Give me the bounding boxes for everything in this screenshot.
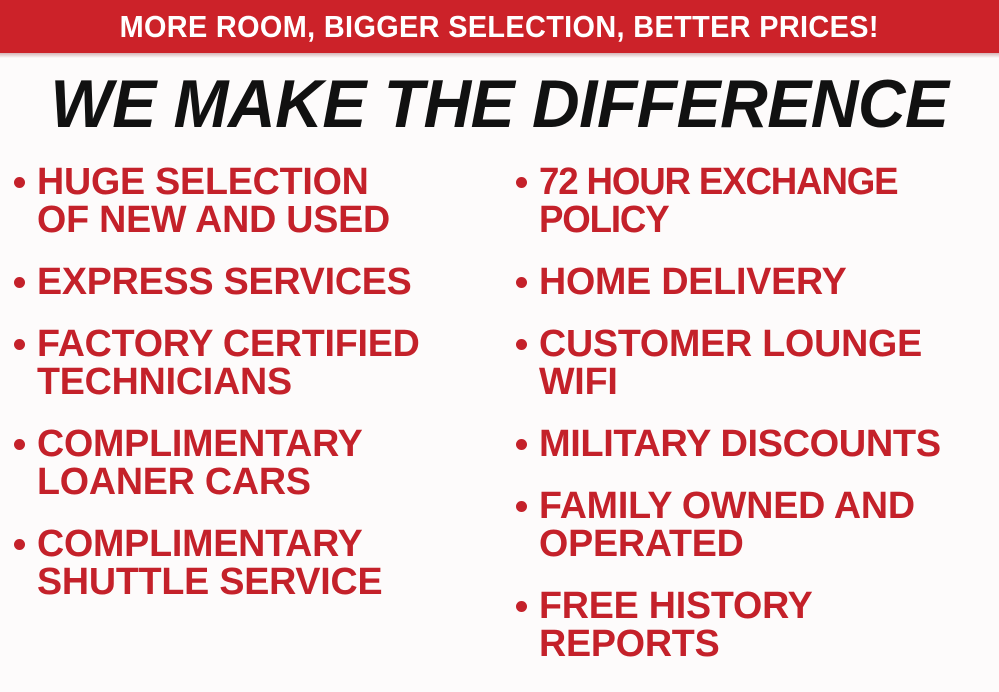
features-section: HUGE SELECTION OF NEW AND USED EXPRESS S… (0, 163, 999, 692)
list-item: FACTORY CERTIFIED TECHNICIANS (14, 325, 500, 401)
bullet-dot-icon (516, 177, 527, 188)
promo-banner: MORE ROOM, BIGGER SELECTION, BETTER PRIC… (0, 0, 999, 53)
list-item: 72 HOUR EXCHANGE POLICY (516, 163, 999, 239)
bullet-dot-icon (14, 177, 25, 188)
list-item: HOME DELIVERY (516, 263, 999, 301)
bullet-dot-icon (516, 501, 527, 512)
list-item-label: HUGE SELECTION OF NEW AND USED (37, 163, 495, 239)
list-item-label: EXPRESS SERVICES (37, 263, 495, 301)
list-item-label: 72 HOUR EXCHANGE POLICY (539, 163, 983, 239)
features-column-right: 72 HOUR EXCHANGE POLICY HOME DELIVERY CU… (516, 163, 999, 687)
list-item-label: FACTORY CERTIFIED TECHNICIANS (37, 325, 495, 401)
list-item: FAMILY OWNED AND OPERATED (516, 487, 999, 563)
bullet-dot-icon (516, 277, 527, 288)
bullet-dot-icon (14, 339, 25, 350)
features-column-left: HUGE SELECTION OF NEW AND USED EXPRESS S… (14, 163, 500, 625)
list-item: CUSTOMER LOUNGE WIFI (516, 325, 999, 401)
list-item-label: FAMILY OWNED AND OPERATED (539, 487, 994, 563)
list-item-label: COMPLIMENTARY SHUTTLE SERVICE (37, 525, 495, 601)
list-item: EXPRESS SERVICES (14, 263, 500, 301)
list-item-label: COMPLIMENTARY LOANER CARS (37, 425, 495, 501)
bullet-dot-icon (516, 439, 527, 450)
promo-banner-text: MORE ROOM, BIGGER SELECTION, BETTER PRIC… (120, 11, 879, 42)
list-item: COMPLIMENTARY SHUTTLE SERVICE (14, 525, 500, 601)
list-item-label: CUSTOMER LOUNGE WIFI (539, 325, 994, 401)
page-title: WE MAKE THE DIFFERENCE (15, 70, 984, 138)
bullet-dot-icon (14, 439, 25, 450)
list-item: MILITARY DISCOUNTS (516, 425, 999, 463)
bullet-dot-icon (14, 539, 25, 550)
bullet-dot-icon (516, 339, 527, 350)
list-item-label: MILITARY DISCOUNTS (539, 425, 999, 463)
list-item: FREE HISTORY REPORTS (516, 587, 999, 663)
banner-shadow-divider (0, 53, 999, 58)
list-item: HUGE SELECTION OF NEW AND USED (14, 163, 500, 239)
list-item-label: HOME DELIVERY (539, 263, 994, 301)
list-item: COMPLIMENTARY LOANER CARS (14, 425, 500, 501)
bullet-dot-icon (14, 277, 25, 288)
list-item-label: FREE HISTORY REPORTS (539, 587, 994, 663)
bullet-dot-icon (516, 601, 527, 612)
